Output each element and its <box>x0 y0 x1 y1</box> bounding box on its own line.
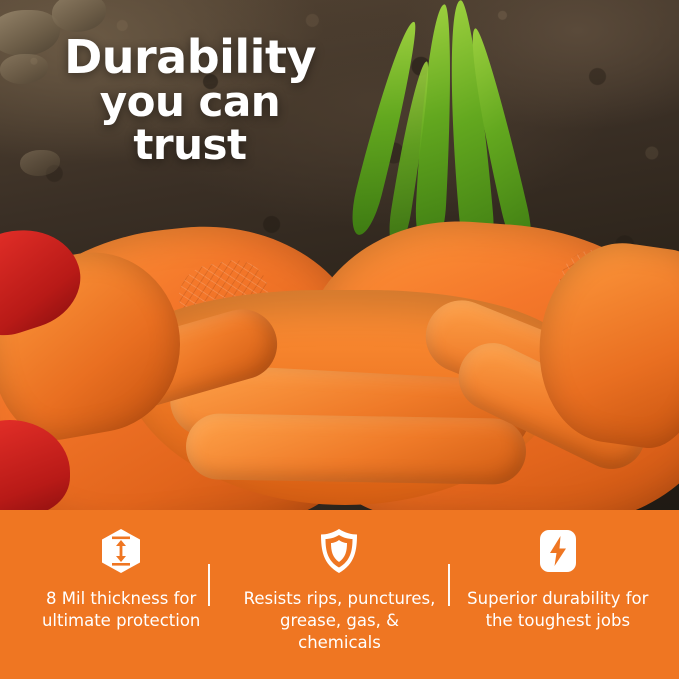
feature-banner: 8 Mil thickness for ultimate protection … <box>0 510 679 679</box>
feature-divider <box>448 564 450 606</box>
feature-thickness-text: 8 Mil thickness for ultimate protection <box>21 588 221 632</box>
glove-finger <box>185 413 526 485</box>
headline-line-2: you can <box>0 81 380 124</box>
feature-resistance: Resists rips, punctures, grease, gas, & … <box>230 528 448 653</box>
feature-divider <box>208 564 210 606</box>
shield-icon <box>318 528 360 574</box>
lightning-bolt-icon <box>537 528 579 574</box>
feature-resistance-text: Resists rips, punctures, grease, gas, & … <box>239 588 439 653</box>
headline: Durability you can trust <box>0 34 380 167</box>
headline-line-3: trust <box>0 124 380 167</box>
feature-durability: Superior durability for the toughest job… <box>449 528 667 632</box>
feature-thickness: 8 Mil thickness for ultimate protection <box>12 528 230 632</box>
product-photo: Durability you can trust <box>0 0 679 510</box>
headline-line-1: Durability <box>0 34 380 81</box>
feature-durability-text: Superior durability for the toughest job… <box>458 588 658 632</box>
product-infographic: Durability you can trust 8 Mil thickness… <box>0 0 679 679</box>
thickness-arrows-hexagon-icon <box>100 528 142 574</box>
